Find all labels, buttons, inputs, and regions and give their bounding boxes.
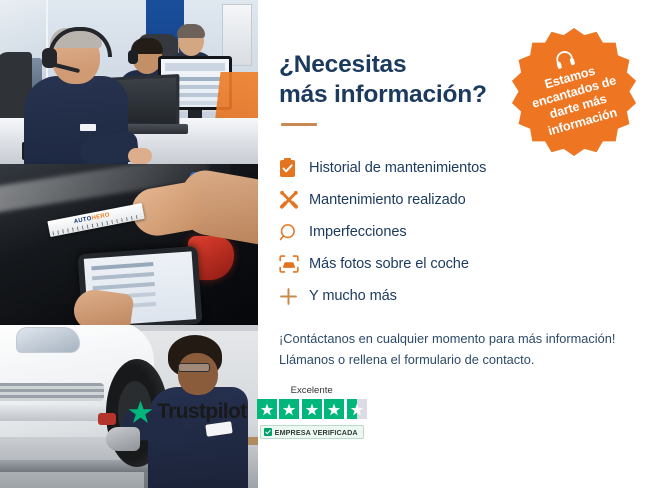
trustpilot-wordmark: Trustpilot: [157, 400, 247, 424]
page-title-line-1: ¿Necesitas: [279, 51, 406, 78]
agent-foreground: [24, 30, 128, 164]
verified-company-label: EMPRESA VERIFICADA: [275, 428, 358, 437]
rating-star-4: [324, 399, 344, 419]
feature-item-mas: Y mucho más: [279, 280, 632, 312]
headset-icon: [553, 48, 577, 71]
badge-text: Estamos encantados de darte más informac…: [518, 57, 635, 144]
call-center-agents-photo: [0, 0, 258, 164]
feature-item-imperfecciones: Imperfecciones: [279, 216, 632, 248]
promo-badge: Estamos encantados de darte más informac…: [510, 28, 638, 156]
page-title-line-2: más información?: [279, 81, 487, 108]
feature-item-fotos: Más fotos sobre el coche: [279, 248, 632, 280]
rating-star-1: [257, 399, 277, 419]
page-title: ¿Necesitas más información?: [279, 50, 511, 110]
rating-star-2: [279, 399, 299, 419]
clipboard-check-icon: [279, 155, 309, 181]
feature-item-mantenimiento: Mantenimiento realizado: [279, 184, 632, 216]
rating-star-5-half: [347, 399, 367, 419]
verified-check-icon: [264, 428, 272, 436]
feature-label: Historial de mantenimientos: [309, 160, 486, 176]
trustpilot-rating: Excelente: [257, 385, 367, 439]
plus-icon: [279, 283, 309, 309]
magnifier-icon: [279, 219, 309, 245]
contact-line-2: Llámanos o rellena el formulario de cont…: [279, 350, 632, 371]
trustpilot-rating-label: Excelente: [291, 385, 333, 396]
trustpilot-widget[interactable]: Trustpilot Excelente: [128, 385, 367, 439]
feature-label: Mantenimiento realizado: [309, 192, 466, 208]
verified-company-badge: EMPRESA VERIFICADA: [260, 425, 364, 439]
contact-copy: ¡Contáctanos en cualquier momento para m…: [279, 329, 632, 370]
contact-line-1: ¡Contáctanos en cualquier momento para m…: [279, 329, 632, 350]
trustpilot-star-icon: [128, 400, 153, 424]
crossed-tools-icon: [279, 187, 309, 213]
trustpilot-logo: Trustpilot: [128, 400, 247, 424]
title-divider: [281, 123, 317, 126]
rating-star-3: [302, 399, 322, 419]
car-photo-frame-icon: [279, 251, 309, 277]
feature-label: Más fotos sobre el coche: [309, 256, 469, 272]
trustpilot-star-rating: [257, 399, 367, 419]
inspection-ruler-tablet-photo: AUTOHERO: [0, 164, 258, 325]
feature-label: Y mucho más: [309, 288, 397, 304]
feature-label: Imperfecciones: [309, 224, 407, 240]
information-promo-card: AUTOHERO: [0, 0, 650, 488]
feature-list: Historial de mantenimientos Mantenimient…: [279, 152, 632, 312]
